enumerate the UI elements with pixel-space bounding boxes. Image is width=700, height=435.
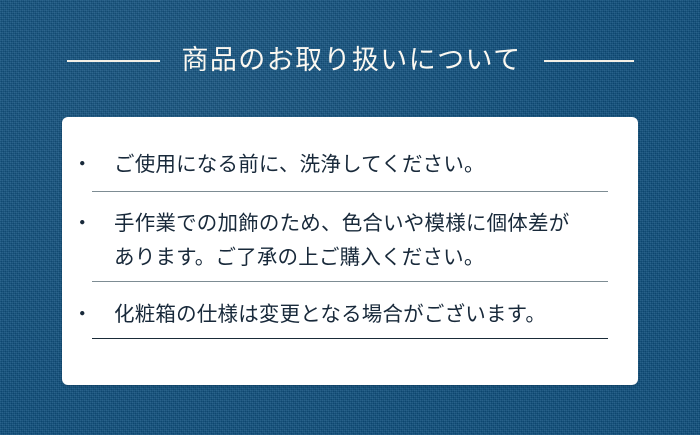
- note-line-continued: あります。ご了承の上ご購入ください。: [92, 241, 608, 275]
- notice-card: ・ご使用になる前に、洗浄してください。 ・手作業での加飾のため、色合いや模様に個…: [62, 117, 638, 385]
- page-title-row: 商品のお取り扱いについて: [0, 38, 700, 84]
- note-text: ご使用になる前に、洗浄してください。: [114, 153, 485, 176]
- list-item: ・ご使用になる前に、洗浄してください。: [92, 148, 608, 182]
- note-text: あります。ご了承の上ご購入ください。: [114, 246, 485, 269]
- notice-banner: 商品のお取り扱いについて ・ご使用になる前に、洗浄してください。 ・手作業での加…: [0, 0, 700, 435]
- list-item: ・手作業での加飾のため、色合いや模様に個体差が あります。ご了承の上ご購入くださ…: [92, 207, 608, 275]
- list-item: ・化粧箱の仕様は変更となる場合がございます。: [92, 298, 608, 332]
- note-line: ・ご使用になる前に、洗浄してください。: [92, 148, 608, 182]
- separator: [92, 191, 608, 192]
- bullet-icon: ・: [94, 148, 114, 182]
- bullet-icon: ・: [94, 298, 114, 332]
- title-rule-left-icon: [67, 60, 160, 62]
- separator: [92, 281, 608, 282]
- note-text: 化粧箱の仕様は変更となる場合がございます。: [114, 303, 546, 326]
- page-title: 商品のお取り扱いについて: [182, 46, 522, 76]
- note-text: 手作業での加飾のため、色合いや模様に個体差が: [114, 212, 569, 235]
- separator: [92, 338, 608, 339]
- notice-card-content: ・ご使用になる前に、洗浄してください。 ・手作業での加飾のため、色合いや模様に個…: [92, 117, 608, 385]
- title-rule-right-icon: [544, 60, 634, 62]
- note-line: ・手作業での加飾のため、色合いや模様に個体差が: [92, 207, 608, 241]
- bullet-icon: ・: [94, 207, 114, 241]
- note-line: ・化粧箱の仕様は変更となる場合がございます。: [92, 298, 608, 332]
